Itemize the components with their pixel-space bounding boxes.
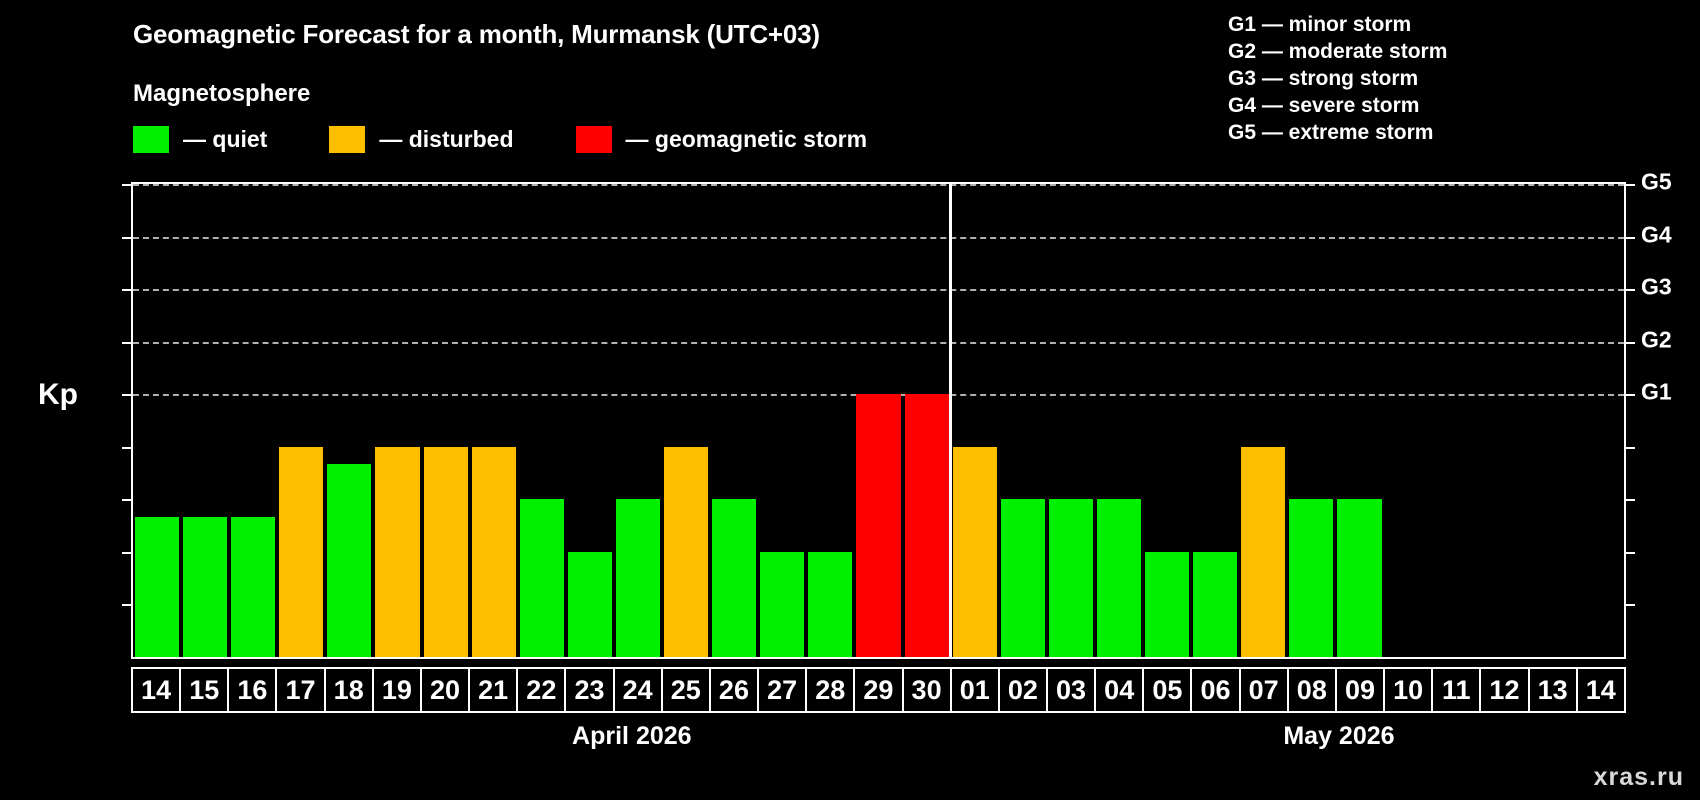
bar-kp-19 (375, 447, 419, 657)
bar-kp-29 (856, 394, 900, 657)
bar-kp-17 (279, 447, 323, 657)
g-axis-label-g2: G2 (1641, 326, 1672, 353)
month-caption: May 2026 (1283, 722, 1394, 751)
date-label-cell[interactable]: 04 (1096, 669, 1144, 711)
date-label-cell[interactable]: 13 (1530, 669, 1578, 711)
bar-kp-06 (1193, 552, 1237, 657)
y-tick-1 (122, 604, 133, 606)
date-label-cell[interactable]: 08 (1289, 669, 1337, 711)
g-legend-row: G4 — severe storm (1228, 93, 1447, 120)
y-tick-7 (122, 289, 133, 291)
y-tick-right-4 (1624, 447, 1635, 449)
date-label-cell[interactable]: 14 (1578, 669, 1624, 711)
bar-kp-21 (472, 447, 516, 657)
y-tick-right-5 (1624, 394, 1635, 396)
bar-kp-23 (568, 552, 612, 657)
month-caption: April 2026 (572, 722, 692, 751)
date-label-cell[interactable]: 29 (855, 669, 903, 711)
bar-kp-04 (1097, 499, 1141, 657)
date-label-cell[interactable]: 06 (1192, 669, 1240, 711)
legend-item-label: — disturbed (379, 126, 513, 153)
y-axis-title: Kp (38, 378, 78, 412)
y-tick-right-6 (1624, 342, 1635, 344)
y-tick-2 (122, 552, 133, 554)
bar-kp-24 (616, 499, 660, 657)
gridline-kp-7 (133, 289, 1624, 291)
legend-item-label: — geomagnetic storm (626, 126, 868, 153)
date-label-cell[interactable]: 21 (470, 669, 518, 711)
green-square-icon (133, 126, 169, 153)
date-label-cell[interactable]: 22 (518, 669, 566, 711)
y-tick-8 (122, 237, 133, 239)
date-label-cell[interactable]: 19 (374, 669, 422, 711)
bar-kp-15 (183, 517, 227, 657)
g-axis-label-g4: G4 (1641, 221, 1672, 248)
bar-kp-30 (905, 394, 949, 657)
y-tick-right-3 (1624, 499, 1635, 501)
watermark: xras.ru (1594, 763, 1684, 792)
date-label-cell[interactable]: 16 (229, 669, 277, 711)
date-label-cell[interactable]: 24 (615, 669, 663, 711)
bar-kp-22 (520, 499, 564, 657)
y-tick-6 (122, 342, 133, 344)
date-label-cell[interactable]: 02 (1000, 669, 1048, 711)
date-label-cell[interactable]: 03 (1048, 669, 1096, 711)
date-label-cell[interactable]: 25 (663, 669, 711, 711)
legend-item-label: — quiet (183, 126, 267, 153)
date-label-cell[interactable]: 18 (326, 669, 374, 711)
chart-plot-area (131, 182, 1626, 659)
g-legend-row: G1 — minor storm (1228, 12, 1447, 39)
date-label-cell[interactable]: 26 (711, 669, 759, 711)
legend-item: — geomagnetic storm (576, 126, 868, 153)
page-title: Geomagnetic Forecast for a month, Murman… (133, 19, 820, 50)
plot-inner (133, 184, 1624, 657)
g-axis-label-g5: G5 (1641, 169, 1672, 196)
gridline-kp-9 (133, 184, 1624, 186)
y-tick-right-9 (1624, 184, 1635, 186)
date-label-cell[interactable]: 14 (133, 669, 181, 711)
y-tick-right-2 (1624, 552, 1635, 554)
legend-item: — quiet (133, 126, 267, 153)
date-label-cell[interactable]: 10 (1385, 669, 1433, 711)
g-axis-label-g3: G3 (1641, 274, 1672, 301)
date-axis-row: 1415161718192021222324252627282930010203… (131, 667, 1626, 713)
legend-item: — disturbed (329, 126, 513, 153)
bar-kp-05 (1145, 552, 1189, 657)
date-label-cell[interactable]: 12 (1481, 669, 1529, 711)
date-label-cell[interactable]: 05 (1144, 669, 1192, 711)
g-scale-legend: G1 — minor stormG2 — moderate stormG3 — … (1228, 12, 1447, 146)
g-legend-row: G3 — strong storm (1228, 66, 1447, 93)
magnetosphere-label: Magnetosphere (133, 80, 310, 108)
date-label-cell[interactable]: 09 (1337, 669, 1385, 711)
y-tick-3 (122, 499, 133, 501)
bar-kp-27 (760, 552, 804, 657)
bar-kp-08 (1289, 499, 1333, 657)
y-tick-4 (122, 447, 133, 449)
bar-kp-09 (1337, 499, 1381, 657)
g-legend-row: G5 — extreme storm (1228, 120, 1447, 147)
date-label-cell[interactable]: 23 (566, 669, 614, 711)
bar-kp-25 (664, 447, 708, 657)
bar-kp-16 (231, 517, 275, 657)
date-label-cell[interactable]: 07 (1241, 669, 1289, 711)
red-square-icon (576, 126, 612, 153)
bar-kp-02 (1001, 499, 1045, 657)
bar-kp-03 (1049, 499, 1093, 657)
y-tick-5 (122, 394, 133, 396)
gridline-kp-8 (133, 237, 1624, 239)
bar-kp-28 (808, 552, 852, 657)
g-legend-row: G2 — moderate storm (1228, 39, 1447, 66)
bar-kp-14 (135, 517, 179, 657)
y-tick-9 (122, 184, 133, 186)
y-tick-right-1 (1624, 604, 1635, 606)
date-label-cell[interactable]: 27 (759, 669, 807, 711)
date-label-cell[interactable]: 11 (1433, 669, 1481, 711)
bar-kp-26 (712, 499, 756, 657)
orange-square-icon (329, 126, 365, 153)
g-axis-label-g1: G1 (1641, 379, 1672, 406)
date-label-cell[interactable]: 01 (952, 669, 1000, 711)
legend: — quiet— disturbed— geomagnetic storm (133, 126, 929, 153)
bar-kp-07 (1241, 447, 1285, 657)
month-divider-line (949, 184, 952, 657)
bar-kp-20 (424, 447, 468, 657)
date-label-cell[interactable]: 20 (422, 669, 470, 711)
y-tick-right-8 (1624, 237, 1635, 239)
date-label-cell[interactable]: 17 (277, 669, 325, 711)
bar-kp-18 (327, 464, 371, 657)
date-label-cell[interactable]: 30 (904, 669, 952, 711)
date-label-cell[interactable]: 15 (181, 669, 229, 711)
date-label-cell[interactable]: 28 (807, 669, 855, 711)
bar-kp-01 (953, 447, 997, 657)
y-tick-right-7 (1624, 289, 1635, 291)
gridline-kp-6 (133, 342, 1624, 344)
